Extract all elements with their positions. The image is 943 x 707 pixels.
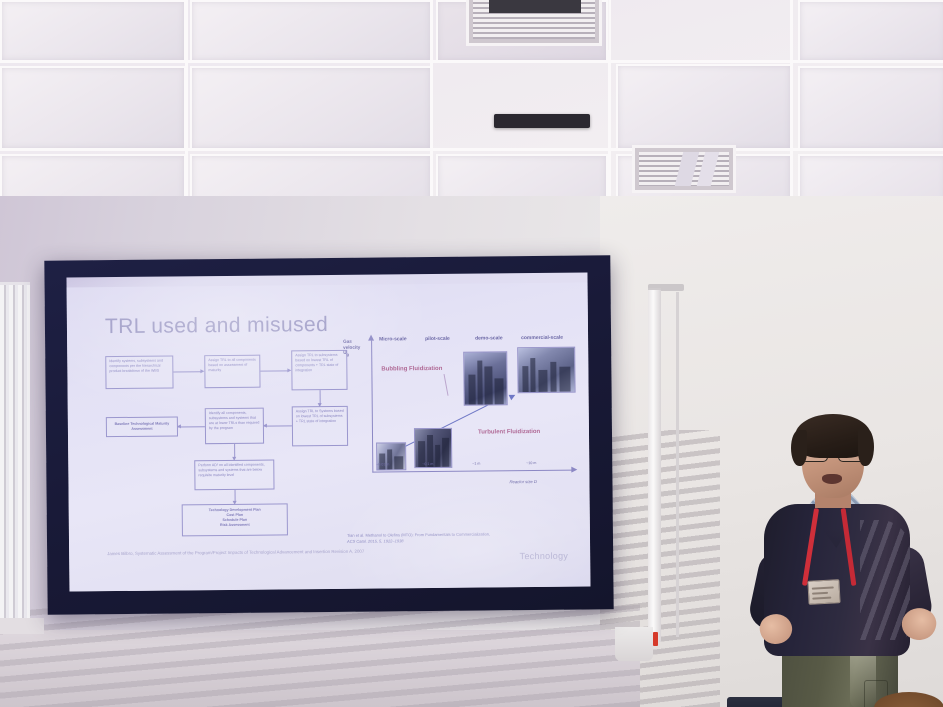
photo-commercial-scale: [517, 347, 575, 394]
x-tick-0: ~0.01 m: [376, 462, 389, 466]
radiator-base: [0, 618, 44, 634]
x-tick-3: ~10 m: [526, 461, 536, 465]
presenter-hair-side-left: [791, 430, 807, 466]
slide-brand: Technology: [520, 551, 569, 561]
ceiling-sensor-icon: [494, 114, 590, 128]
scale-label-pilot: pilot-scale: [425, 336, 450, 342]
flow-box-baseline-assessment: Baseline Technological Maturity Assessme…: [106, 416, 178, 437]
presenter: [742, 412, 943, 707]
connector: [173, 371, 201, 372]
ceiling-vent-icon: [466, 0, 602, 46]
scale-label-commercial: commercial-scale: [521, 335, 563, 341]
y-axis: [371, 341, 373, 473]
connector: [264, 425, 292, 426]
presenter-mouth: [822, 474, 842, 484]
trend-arrow-head-icon: [509, 392, 517, 400]
flow-box-assign-trl-systems: Assign TRL to Systems based on lowest TR…: [292, 406, 348, 447]
x-axis-label: Reactor size D: [509, 479, 537, 484]
ceiling-tile: [190, 0, 432, 62]
ceiling-tile: [0, 66, 186, 150]
conference-room-photo: TRL used and misused Identify systems, s…: [0, 0, 943, 707]
presentation-slide: TRL used and misused Identify systems, s…: [67, 283, 591, 592]
wall-radiator: [0, 282, 30, 625]
connector: [260, 370, 288, 371]
x-tick-1: ~0.1 m: [422, 462, 433, 466]
flow-box-assign-trl-components: Assign TRL to all components based on as…: [204, 355, 260, 389]
photo-demo-scale: [463, 351, 508, 405]
projection-screen[interactable]: TRL used and misused Identify systems, s…: [66, 273, 590, 592]
ceiling-tile: [0, 0, 186, 62]
ceiling-tile: [616, 64, 792, 150]
annotation-leader: [444, 374, 449, 396]
slide-footer-reference: James Bilbro, Systematic Assessment of t…: [107, 548, 367, 558]
ceiling-tile: [190, 66, 432, 150]
flow-box-identify-systems: Identify systems, subsystems and compone…: [105, 355, 173, 389]
y-axis-label: GasvelocityUg: [343, 339, 360, 358]
ceiling-vent-icon: [632, 145, 736, 193]
annotation-turbulent: Turbulent Fluidization: [478, 429, 540, 436]
ceiling-tile: [798, 66, 943, 150]
whiteboard-rod: [676, 292, 679, 637]
citation-line-1: Tian et al. Methanol to Olefins (MTO): F…: [347, 531, 490, 537]
flow-box-perform-ad2: Perform AD² on all identified components…: [194, 460, 274, 491]
scaleup-chart: GasvelocityUg Reactor size D Micro-scale…: [345, 335, 579, 527]
presenter-hair-side-right: [858, 428, 874, 466]
flow-box-identify-lower-trls: Identify all components, subsystems and …: [205, 408, 264, 445]
x-tick-2: ~1 m: [472, 462, 480, 466]
projection-screen-frame: TRL used and misused Identify systems, s…: [44, 255, 613, 614]
flow-box-development-plan: Technology Development Plan Cost Plan Sc…: [182, 503, 288, 536]
scale-label-micro: Micro-scale: [379, 336, 407, 342]
annotation-bubbling: Bubbling Fluidization: [381, 366, 442, 373]
slide-title: TRL used and misused: [105, 313, 328, 339]
connector: [178, 426, 205, 427]
x-axis-arrow-icon: [571, 467, 577, 473]
red-marker-icon: [653, 632, 658, 646]
marker-holder: [615, 627, 653, 661]
y-axis-arrow-icon: [368, 335, 374, 341]
name-badge: [807, 579, 840, 605]
flow-box-assign-trl-subsystems: Assign TRL to subsystems based on lowest…: [291, 350, 347, 391]
scale-label-demo: demo-scale: [475, 335, 503, 341]
connector: [234, 444, 235, 458]
blind-shadow-floor: [0, 600, 640, 707]
citation-line-2: ACS Catal. 2015, 5, 1922–1938: [347, 538, 404, 544]
chart-citation: Tian et al. Methanol to Olefins (MTO): F…: [347, 531, 577, 545]
trl-flowchart: Identify systems, subsystems and compone…: [67, 283, 588, 288]
whiteboard-rail: [648, 288, 661, 642]
connector: [320, 390, 321, 404]
ceiling-tile: [798, 0, 943, 62]
